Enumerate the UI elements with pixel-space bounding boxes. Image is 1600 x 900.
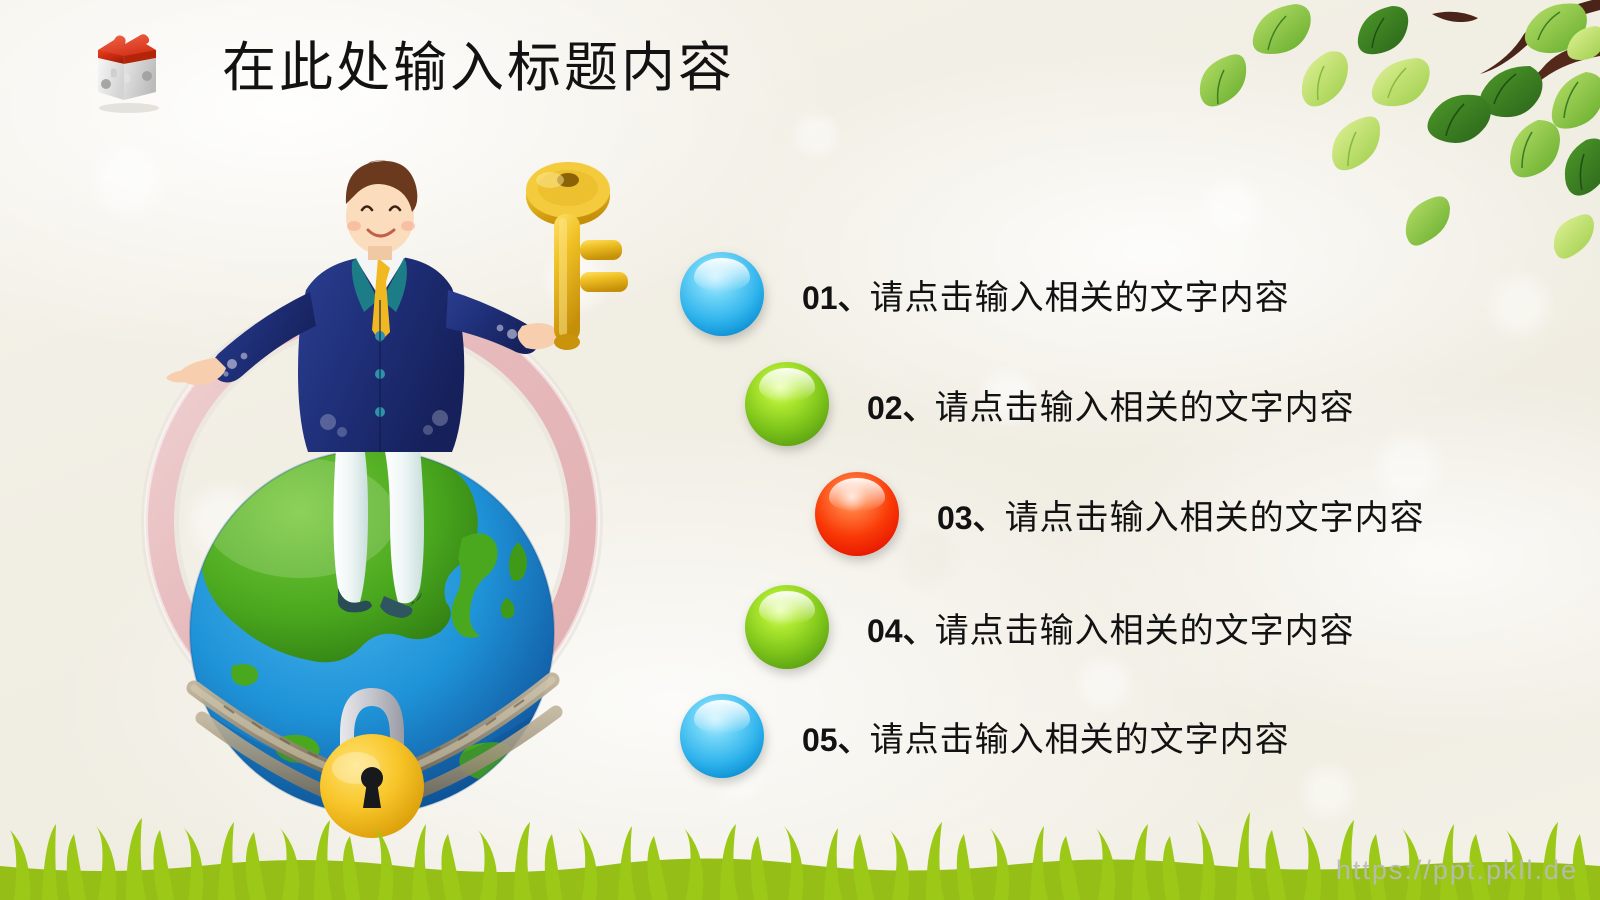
bullet-number-05: 05、 [802,722,870,758]
tree-branch-leaves-decoration [1180,0,1600,400]
bullet-ball-04 [745,585,829,669]
list-item[interactable]: 05、请点击输入相关的文字内容 [680,694,1290,778]
bullet-label-04: 请点击输入相关的文字内容 [935,613,1355,650]
illustration-man-with-key-on-chained-globe [140,140,610,820]
bullet-number-03: 03、 [937,500,1005,536]
bullet-number-01: 01、 [802,280,870,316]
bullet-number-02: 02、 [867,390,935,426]
bullet-label-03: 请点击输入相关的文字内容 [1005,500,1425,537]
bullet-number-04: 04、 [867,613,935,649]
bullet-text-04: 04、请点击输入相关的文字内容 [867,603,1355,652]
watermark: https://ppt.pkll.de [1336,855,1578,886]
page-title: 在此处输入标题内容 [222,41,735,95]
bullet-ball-02 [745,362,829,446]
list-item[interactable]: 03、请点击输入相关的文字内容 [815,472,1425,556]
bullet-label-05: 请点击输入相关的文字内容 [870,722,1290,759]
bullet-text-05: 05、请点击输入相关的文字内容 [802,712,1290,761]
slide-header: 在此处输入标题内容 [84,22,735,114]
bullet-ball-05 [680,694,764,778]
list-item[interactable]: 04、请点击输入相关的文字内容 [745,585,1355,669]
bullet-ball-03 [815,472,899,556]
bullet-ball-01 [680,252,764,336]
bullet-text-03: 03、请点击输入相关的文字内容 [937,490,1425,539]
slide-canvas: 在此处输入标题内容 [0,0,1600,900]
puzzle-cube-icon [84,22,170,114]
